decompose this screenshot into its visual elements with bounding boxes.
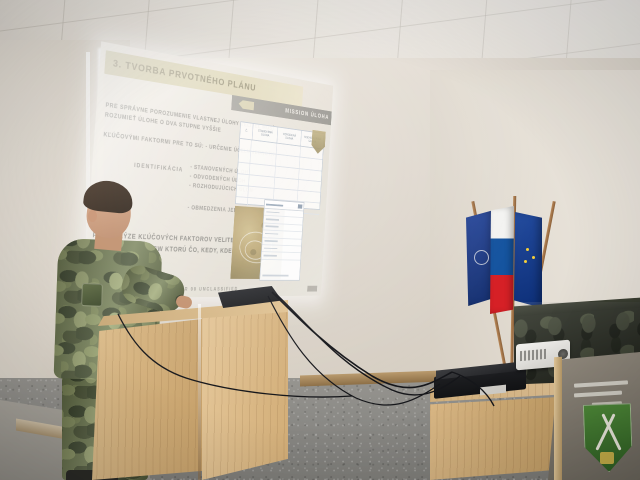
cable-4 [118,314,352,397]
nato-emblem-icon [474,250,489,265]
table-cell [238,162,251,174]
eu-star-icon [532,256,535,259]
screenshot-root: 3. TVORBA PRVOTNÉHO PLÁNU MISSION ÚLOHA … [0,0,640,480]
table-cell [298,180,321,192]
table-header-cell: STANOVENÁ ÚLOHA [253,124,279,143]
presenter-hair [83,179,135,215]
eu-star-icon [526,248,529,251]
cable-paths [0,280,640,480]
form-stamp [298,204,303,208]
form-row [261,252,300,260]
slide-table: Č. STANOVENÁ ÚLOHA ODVODENÁ ÚLOHA ROZHOD… [235,121,324,210]
table-cell [239,139,252,151]
presenter-ear [88,210,97,222]
mission-band-label: MISSION ÚLOHA [285,108,329,121]
form-footer-line [262,275,288,277]
cables [0,280,640,480]
table-header-cell: ODVODENÁ ÚLOHA [277,127,302,145]
table-header-cell: Č. [240,122,254,139]
identification-label: IDENTIFIKÁCIA [134,162,183,173]
table-cell [239,151,252,163]
table-cell [236,186,249,198]
table-cell [248,187,274,200]
eu-star-icon [524,260,527,263]
slide-form-document [259,199,304,281]
table-cell [237,174,250,186]
cable-2 [276,294,460,395]
